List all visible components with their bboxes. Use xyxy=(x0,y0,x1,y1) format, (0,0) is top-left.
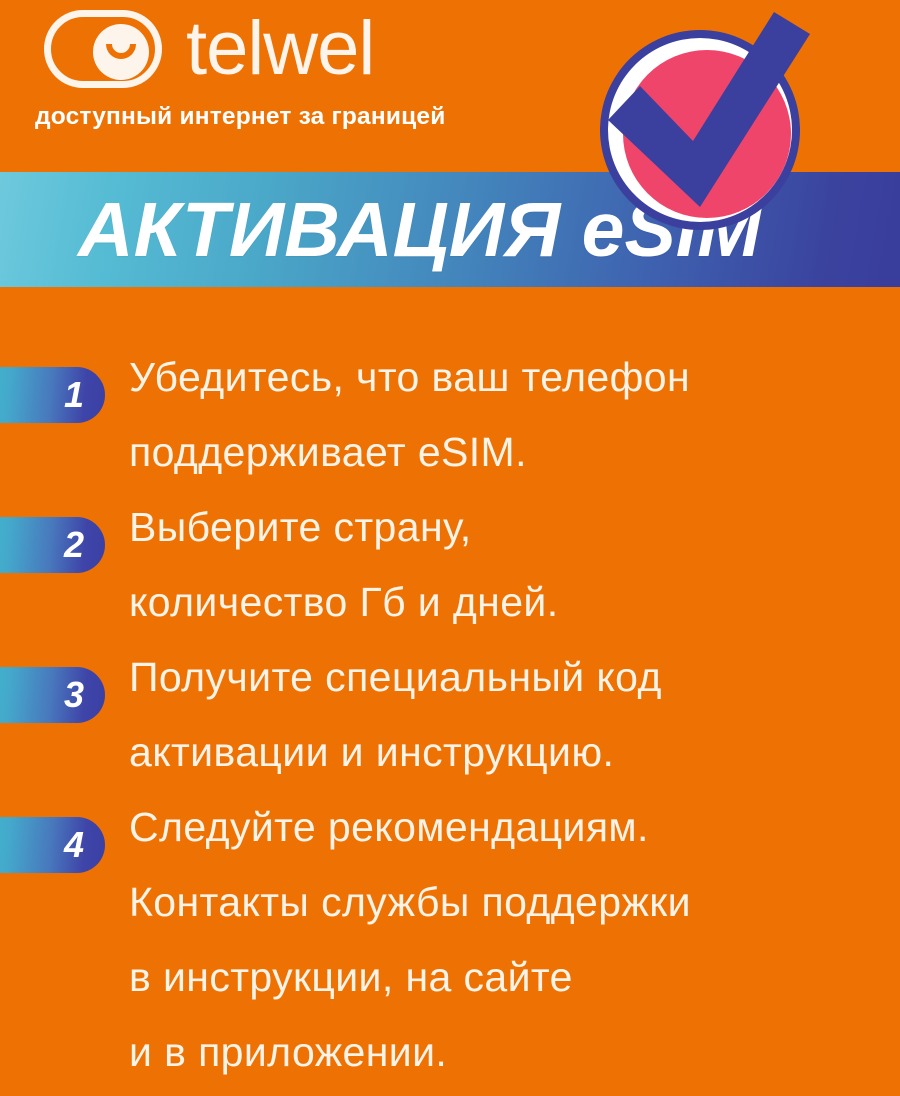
step-text-line: активации и инструкцию. xyxy=(129,715,889,790)
step-text-line: количество Гб и дней. xyxy=(129,565,889,640)
brand-header: telwel доступный интернет за границей xyxy=(0,0,900,172)
step-number-label: 1 xyxy=(64,377,84,413)
step-text-line: Получите специальный код xyxy=(129,640,889,715)
step-text-line: и в приложении. xyxy=(129,1015,889,1090)
steps-list: 1 Убедитесь, что ваш телефон поддерживае… xyxy=(0,287,900,1096)
step-text-line: Убедитесь, что ваш телефон xyxy=(129,340,889,415)
step-text-line: Контакты службы поддержки xyxy=(129,865,889,940)
brand-tagline: доступный интернет за границей xyxy=(35,103,446,131)
step-text-line: в инструкции, на сайте xyxy=(129,940,889,1015)
step-text-block: Следуйте рекомендациям. Контакты службы … xyxy=(129,790,889,1090)
page-title: АКТИВАЦИЯ eSIM xyxy=(78,184,761,276)
step-text-block: Получите специальный код активации и инс… xyxy=(129,640,889,790)
step-text-line: Выберите страну, xyxy=(129,490,889,565)
step-number-label: 2 xyxy=(64,527,84,563)
step-number-badge: 2 xyxy=(0,517,105,573)
step-number-label: 3 xyxy=(64,677,84,713)
step-number-badge: 3 xyxy=(0,667,105,723)
brand-wordmark: telwel xyxy=(186,11,374,93)
brand-logo-row: telwel xyxy=(40,6,374,98)
esim-activation-poster: telwel доступный интернет за границей АК… xyxy=(0,0,900,1096)
step-text-block: Убедитесь, что ваш телефон поддерживает … xyxy=(129,340,889,490)
step-number-badge: 1 xyxy=(0,367,105,423)
telwel-smiley-pill-logo-icon xyxy=(40,6,172,98)
step-number-badge: 4 xyxy=(0,817,105,873)
step-number-label: 4 xyxy=(64,827,84,863)
step-text-line: Следуйте рекомендациям. xyxy=(129,790,889,865)
title-banner: АКТИВАЦИЯ eSIM xyxy=(0,172,900,287)
step-text-line: поддерживает eSIM. xyxy=(129,415,889,490)
step-text-block: Выберите страну, количество Гб и дней. xyxy=(129,490,889,640)
